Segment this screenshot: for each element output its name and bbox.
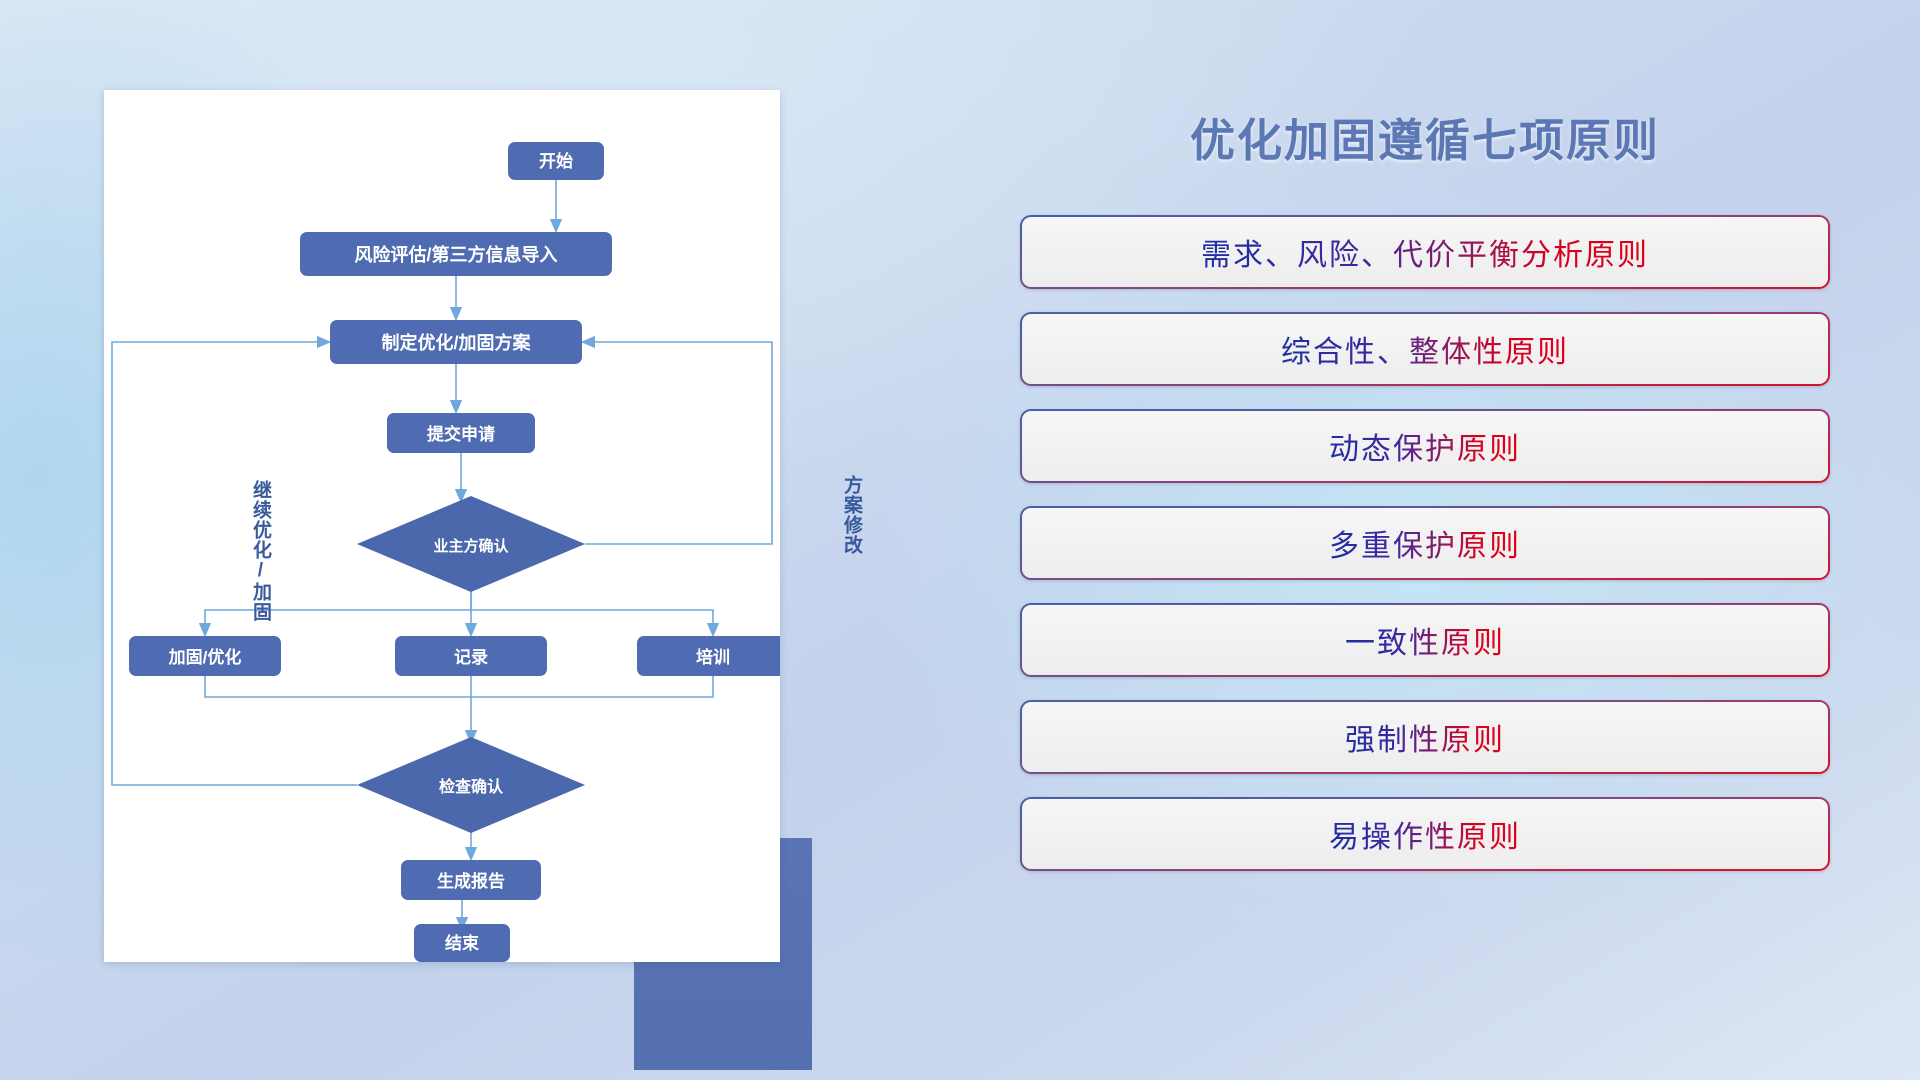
flow-node-reinforce-label: 加固/优化 bbox=[168, 647, 242, 667]
flow-node-end-label: 结束 bbox=[445, 933, 479, 953]
principle-card-inner: 易操作性原则 bbox=[1022, 799, 1828, 869]
principle-card-inner: 需求、风险、代价平衡分析原则 bbox=[1022, 217, 1828, 287]
principle-card-inner: 强制性原则 bbox=[1022, 702, 1828, 772]
principle-card-2[interactable]: 综合性、整体性原则 bbox=[1020, 312, 1830, 386]
principle-card-inner: 多重保护原则 bbox=[1022, 508, 1828, 578]
principle-label: 易操作性原则 bbox=[1329, 812, 1521, 856]
flow-label-continue-optimize: 继续优化/加固 bbox=[250, 480, 270, 622]
principle-card-inner: 动态保护原则 bbox=[1022, 411, 1828, 481]
flow-node-record[interactable]: 记录 bbox=[395, 636, 547, 676]
flow-node-training[interactable]: 培训 bbox=[637, 636, 780, 676]
principle-card-3[interactable]: 动态保护原则 bbox=[1020, 409, 1830, 483]
flow-node-owner-confirm[interactable]: 业主方确认 bbox=[357, 496, 585, 592]
principles-panel: 优化加固遵循七项原则 需求、风险、代价平衡分析原则 综合性、整体性原则 动态保护… bbox=[1020, 104, 1830, 1004]
principle-label: 一致性原则 bbox=[1345, 618, 1505, 662]
flow-node-submit-label: 提交申请 bbox=[427, 424, 495, 444]
flow-node-check-confirm[interactable]: 检查确认 bbox=[357, 737, 585, 833]
flowchart-card: 开始 风险评估/第三方信息导入 制定优化/加固方案 提交申请 bbox=[104, 90, 780, 962]
principle-card-5[interactable]: 一致性原则 bbox=[1020, 603, 1830, 677]
principle-label: 多重保护原则 bbox=[1329, 521, 1521, 565]
principle-label: 综合性、整体性原则 bbox=[1281, 327, 1569, 371]
flowchart-panel: 开始 风险评估/第三方信息导入 制定优化/加固方案 提交申请 bbox=[104, 90, 794, 970]
flow-node-plan[interactable]: 制定优化/加固方案 bbox=[330, 320, 582, 364]
flow-node-end[interactable]: 结束 bbox=[414, 924, 510, 962]
flow-node-owner-confirm-label: 业主方确认 bbox=[433, 537, 509, 555]
principles-list: 需求、风险、代价平衡分析原则 综合性、整体性原则 动态保护原则 多重保护原则 一… bbox=[1020, 215, 1830, 871]
principle-label: 需求、风险、代价平衡分析原则 bbox=[1201, 230, 1649, 274]
flowchart-nodes: 开始 风险评估/第三方信息导入 制定优化/加固方案 提交申请 bbox=[129, 142, 780, 962]
flow-node-start-label: 开始 bbox=[539, 151, 573, 171]
flowchart-svg: 开始 风险评估/第三方信息导入 制定优化/加固方案 提交申请 bbox=[104, 90, 780, 962]
flow-node-check-confirm-label: 检查确认 bbox=[439, 777, 504, 796]
principle-card-inner: 一致性原则 bbox=[1022, 605, 1828, 675]
flow-node-start[interactable]: 开始 bbox=[508, 142, 604, 180]
principle-card-7[interactable]: 易操作性原则 bbox=[1020, 797, 1830, 871]
flow-node-report[interactable]: 生成报告 bbox=[401, 860, 541, 900]
flow-node-plan-label: 制定优化/加固方案 bbox=[381, 332, 531, 353]
flow-node-risk-assessment-label: 风险评估/第三方信息导入 bbox=[355, 244, 558, 265]
flow-node-report-label: 生成报告 bbox=[437, 871, 505, 891]
flow-node-submit[interactable]: 提交申请 bbox=[387, 413, 535, 453]
panel-title: 优化加固遵循七项原则 bbox=[1020, 104, 1830, 169]
principle-card-inner: 综合性、整体性原则 bbox=[1022, 314, 1828, 384]
principle-card-6[interactable]: 强制性原则 bbox=[1020, 700, 1830, 774]
principle-card-4[interactable]: 多重保护原则 bbox=[1020, 506, 1830, 580]
flow-label-plan-revision: 方案修改 bbox=[841, 475, 861, 555]
principle-card-1[interactable]: 需求、风险、代价平衡分析原则 bbox=[1020, 215, 1830, 289]
flow-node-risk-assessment[interactable]: 风险评估/第三方信息导入 bbox=[300, 232, 612, 276]
principle-label: 动态保护原则 bbox=[1329, 424, 1521, 468]
flow-node-reinforce[interactable]: 加固/优化 bbox=[129, 636, 281, 676]
principle-label: 强制性原则 bbox=[1345, 715, 1505, 759]
flow-node-training-label: 培训 bbox=[696, 647, 730, 667]
flow-node-record-label: 记录 bbox=[454, 648, 488, 667]
